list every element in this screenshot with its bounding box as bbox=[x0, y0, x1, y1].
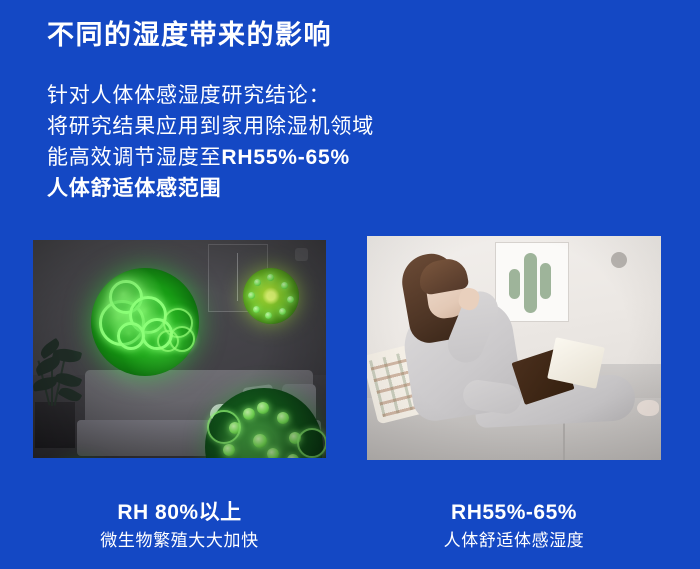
dark-room-scene bbox=[33, 240, 326, 458]
humidity-comparison-poster: 不同的湿度带来的影响 针对人体体感湿度研究结论： 将研究结果应用到家用除湿机领域… bbox=[0, 0, 700, 569]
description-line-3: 能高效调节湿度至RH55%-65% bbox=[47, 142, 374, 173]
bright-room-scene bbox=[367, 236, 661, 460]
caption-high-humidity: RH 80%以上 微生物繁殖大大加快 bbox=[33, 500, 326, 553]
description-line-4: 人体舒适体感范围 bbox=[47, 173, 374, 204]
description-line-1: 针对人体体感湿度研究结论： bbox=[47, 80, 374, 111]
scene-vignette bbox=[367, 236, 661, 460]
caption-subtitle: 人体舒适体感湿度 bbox=[367, 529, 661, 553]
caption-comfort-humidity: RH55%-65% 人体舒适体感湿度 bbox=[367, 500, 661, 553]
page-title: 不同的湿度带来的影响 bbox=[47, 18, 332, 52]
caption-subtitle: 微生物繁殖大大加快 bbox=[33, 529, 326, 553]
image-panel-high-humidity bbox=[33, 240, 326, 458]
description-block: 针对人体体感湿度研究结论： 将研究结果应用到家用除湿机领域 能高效调节湿度至RH… bbox=[47, 80, 374, 204]
caption-title: RH 80%以上 bbox=[33, 500, 326, 526]
description-line-2: 将研究结果应用到家用除湿机领域 bbox=[47, 111, 374, 142]
scene-vignette bbox=[33, 240, 326, 458]
image-panel-comfort-humidity bbox=[367, 236, 661, 460]
humidity-range-emphasis: RH55%-65% bbox=[221, 146, 350, 169]
caption-title: RH55%-65% bbox=[367, 500, 661, 526]
description-line-3-prefix: 能高效调节湿度至 bbox=[47, 146, 221, 169]
